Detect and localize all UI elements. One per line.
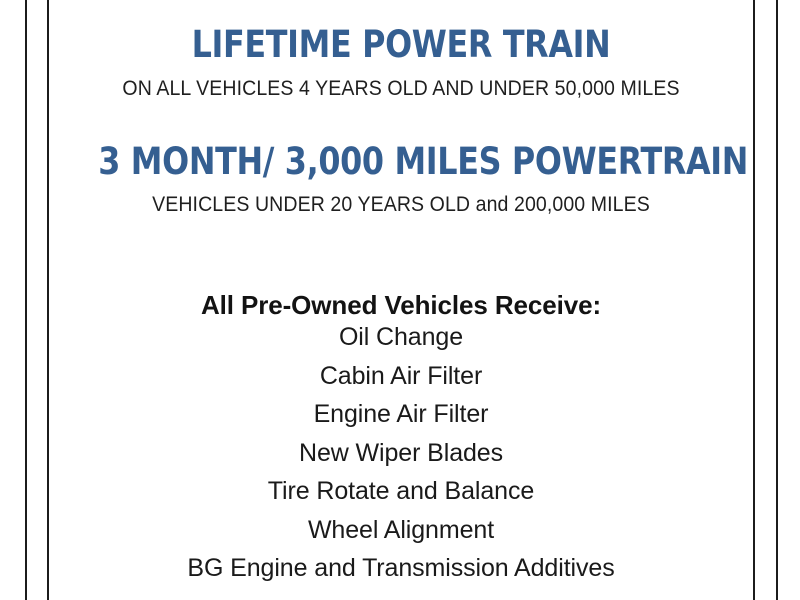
service-item: Oil Change [49,318,753,357]
service-item: Wheel Alignment [49,511,753,550]
frame-rule-right-inner [753,0,755,600]
warranty-block-lifetime: LIFETIME POWER TRAIN ON ALL VEHICLES 4 Y… [49,0,753,101]
warranty-flyer: LIFETIME POWER TRAIN ON ALL VEHICLES 4 Y… [0,0,800,600]
warranty-headline-lifetime: LIFETIME POWER TRAIN [98,26,703,63]
warranty-block-three-month: 3 MONTH/ 3,000 MILES POWERTRAIN VEHICLES… [49,101,753,217]
warranty-subline-three-month: VEHICLES UNDER 20 YEARS OLD and 200,000 … [74,193,729,217]
warranty-headline-three-month: 3 MONTH/ 3,000 MILES POWERTRAIN [98,143,703,180]
service-item: Tire Rotate and Balance [49,472,753,511]
services-title: All Pre-Owned Vehicles Receive: [49,292,753,318]
service-list: Oil Change Cabin Air Filter Engine Air F… [49,318,753,588]
services-block: All Pre-Owned Vehicles Receive: Oil Chan… [49,216,753,588]
service-item: Engine Air Filter [49,395,753,434]
warranty-subline-lifetime: ON ALL VEHICLES 4 YEARS OLD AND UNDER 50… [74,77,729,101]
frame-rule-left-outer [25,0,27,600]
flyer-content: LIFETIME POWER TRAIN ON ALL VEHICLES 4 Y… [49,0,753,600]
service-item: Cabin Air Filter [49,357,753,396]
service-item: New Wiper Blades [49,434,753,473]
frame-rule-right-outer [776,0,778,600]
service-item: BG Engine and Transmission Additives [49,549,753,588]
